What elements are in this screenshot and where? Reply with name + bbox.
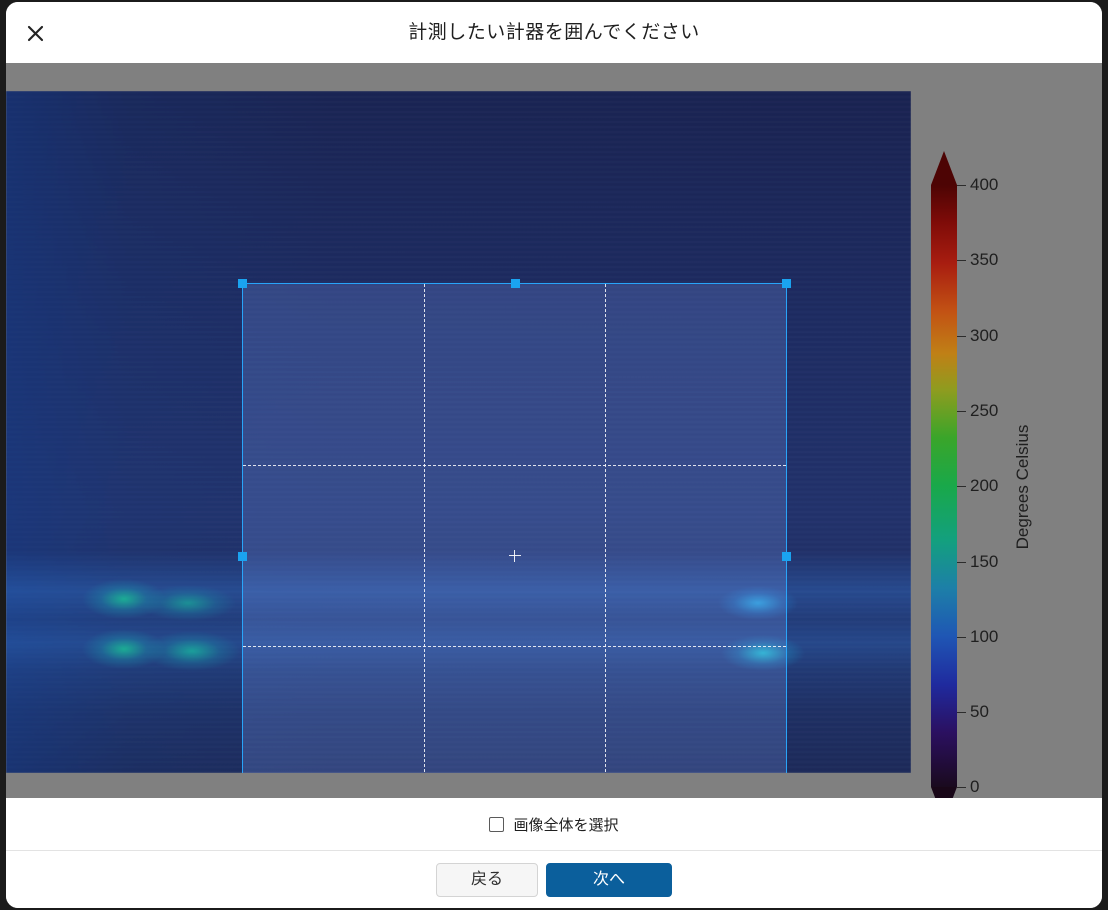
image-canvas-area[interactable]: 400 350 300 250 200 150 100 50 0 Degrees… [6, 63, 1102, 798]
colorbar-extend-max-arrow [931, 151, 957, 185]
colorbar-label-350: 350 [970, 250, 998, 270]
close-icon[interactable] [18, 16, 52, 50]
selection-center-crosshair-icon [509, 550, 521, 562]
select-all-label-text: 画像全体を選択 [513, 814, 618, 835]
colorbar-label-50: 50 [970, 702, 989, 722]
dialog-header: 計測したい計器を囲んでください [6, 2, 1102, 63]
colorbar-tick-200 [957, 486, 966, 487]
colorbar-gradient [931, 185, 957, 787]
back-button[interactable]: 戻る [436, 863, 538, 897]
colorbar-tick-150 [957, 562, 966, 563]
colorbar-label-200: 200 [970, 476, 998, 496]
selection-rectangle[interactable] [242, 283, 787, 773]
selection-handle-top-center[interactable] [511, 279, 520, 288]
colorbar-label-250: 250 [970, 401, 998, 421]
colorbar-tick-0 [957, 787, 966, 788]
select-all-row[interactable]: 画像全体を選択 [489, 814, 618, 835]
selection-guide-vertical-2 [605, 284, 606, 773]
next-button[interactable]: 次へ [546, 863, 672, 897]
colorbar-tick-100 [957, 637, 966, 638]
page-title: 計測したい計器を囲んでください [6, 2, 1102, 63]
colorbar-tick-350 [957, 260, 966, 261]
colorbar-tick-50 [957, 712, 966, 713]
selection-guide-horizontal-2 [243, 646, 786, 647]
colorbar-label-100: 100 [970, 627, 998, 647]
colorbar-label-400: 400 [970, 175, 998, 195]
dialog-window: 計測したい計器を囲んでください [6, 2, 1102, 908]
selection-handle-top-right[interactable] [782, 279, 791, 288]
colorbar-extend-min-arrow [931, 787, 957, 798]
select-all-checkbox[interactable] [489, 817, 504, 832]
thermal-image-stage[interactable] [6, 91, 911, 773]
selection-handle-top-left[interactable] [238, 279, 247, 288]
colorbar-label-150: 150 [970, 552, 998, 572]
colorbar-label-300: 300 [970, 326, 998, 346]
colorbar-label-0: 0 [970, 777, 979, 797]
selection-guide-vertical-1 [424, 284, 425, 773]
colorbar-legend: 400 350 300 250 200 150 100 50 0 Degrees… [931, 151, 1061, 798]
selection-guide-horizontal-1 [243, 465, 786, 466]
selection-handle-middle-right[interactable] [782, 552, 791, 561]
colorbar-tick-400 [957, 185, 966, 186]
footer-button-row: 戻る 次へ [6, 851, 1102, 908]
selection-handle-middle-left[interactable] [238, 552, 247, 561]
colorbar-tick-300 [957, 336, 966, 337]
footer-checkbox-row: 画像全体を選択 [6, 798, 1102, 851]
colorbar-tick-250 [957, 411, 966, 412]
colorbar-axis-label: Degrees Celsius [1013, 425, 1033, 550]
